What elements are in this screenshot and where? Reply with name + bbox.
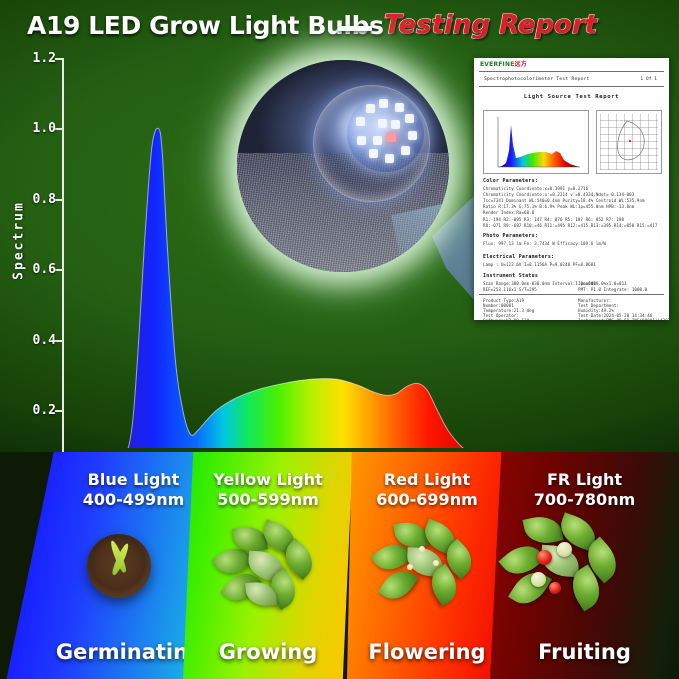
growth-stage-bands: Blue Light 400-499nm Germinating Yellow … — [0, 452, 679, 679]
report-section-heading-2: Electrical Parameters: — [483, 254, 554, 260]
report-section-heading-1: Photo Parameters: — [483, 233, 538, 239]
report-line: PMT: P1.0 Integrate: 1000.0 — [578, 287, 647, 292]
report-brand: EVERFINE远方 — [480, 61, 527, 68]
report-line: Chromaticity Coordinate:x=0.3991 y=0.271… — [483, 186, 588, 191]
band-fr-label-line1: FR Light — [547, 470, 622, 489]
band-red-light[interactable]: Red Light 600-699nm Flowering — [347, 452, 507, 679]
band-fr-label: FR Light 700-780nm — [490, 470, 679, 510]
report-line: Flux: 997.13 lm Fe: 3.7434 W Efficacy:10… — [483, 241, 606, 246]
title-separator-dash — [338, 26, 372, 31]
band-red-label: Red Light 600-699nm — [347, 470, 507, 510]
report-brand-name: EVERFINE — [480, 61, 515, 68]
led-array-disc — [347, 96, 423, 172]
band-fr-light[interactable]: FR Light 700-780nm Fruitin — [490, 452, 679, 679]
report-header-left: Spectrophotocolorimeter Test Report — [484, 77, 590, 83]
report-line: Ipc=0400.0%x1.0=011 — [578, 281, 627, 286]
band-blue-light[interactable]: Blue Light 400-499nm Germinating — [0, 452, 215, 679]
report-brand-cn: 远方 — [515, 61, 527, 68]
report-line: R8:-071 R9:-687 R10:=46 R11:=495 R12:=41… — [483, 223, 657, 228]
report-cie-chart — [596, 110, 662, 174]
report-rule-top — [479, 71, 664, 72]
band-yellow-label-line1: Yellow Light — [213, 470, 322, 489]
band-red-stage: Flowering — [347, 640, 507, 665]
report-rule-footer — [479, 294, 664, 295]
band-yellow-stage: Growing — [183, 640, 353, 665]
report-spectrum-plot — [483, 110, 589, 174]
bulb-photo — [237, 60, 449, 272]
report-section-heading-0: Color Parameters: — [483, 178, 538, 184]
report-line: Chromaticity Coordinate:u'=0.2214 v'=0.4… — [483, 192, 634, 197]
leafy-plant-icon — [208, 518, 328, 614]
report-line: Ratio R:17.3% G:75.1% B:6.9% Peak WL:1p=… — [483, 204, 634, 209]
band-fr-stage: Fruiting — [490, 640, 679, 665]
band-blue-label-line1: Blue Light — [88, 470, 180, 489]
chart-panel: A19 LED Grow Light Bulbs Testing Report … — [0, 0, 679, 452]
tomato-plant-icon — [497, 510, 629, 614]
report-title: Light Source Test Report — [474, 94, 669, 101]
report-section-heading-3: Instrument Status — [483, 273, 538, 279]
page-title: A19 LED Grow Light Bulbs — [27, 11, 384, 41]
seedling-icon — [87, 534, 151, 598]
report-line: R1:-194 R2:-095 R3: 147 R4: 076 R5: 187 … — [483, 217, 624, 222]
report-line: REF=253.116x1 S/T=295 — [483, 287, 537, 292]
report-line: Render Index:Ra=68.8 — [483, 210, 534, 215]
report-footer-line: Instrument:PMS-80_50 INS(00001)(A3021113… — [578, 318, 669, 320]
band-fr-label-line2: 700-780nm — [490, 490, 679, 510]
poster-root: A19 LED Grow Light Bulbs Testing Report … — [0, 0, 679, 679]
title-bar: A19 LED Grow Light Bulbs Testing Report — [0, 4, 679, 44]
band-red-label-line1: Red Light — [384, 470, 470, 489]
band-red-label-line2: 600-699nm — [347, 490, 507, 510]
report-rule-under-header — [479, 86, 664, 87]
flowering-plant-icon — [367, 516, 487, 612]
report-line: Lamp : U=122.6V I=0.1156A P=9.0248 PF=0.… — [483, 262, 596, 267]
report-page-indicator: 1 Of 1 — [640, 77, 657, 83]
title-accent: Testing Report — [384, 9, 597, 41]
band-yellow-light[interactable]: Yellow Light 500-599nm Growing — [183, 452, 353, 679]
report-line: Tcc=7341 Dominant WL:540=0.4nm Purity=18… — [483, 198, 645, 203]
test-report-document: EVERFINE远方 Spectrophotocolorimeter Test … — [474, 58, 669, 320]
band-yellow-label: Yellow Light 500-599nm — [183, 470, 353, 510]
report-footer-line: Software:V3.09.130 — [483, 318, 529, 320]
band-yellow-label-line2: 500-599nm — [183, 490, 353, 510]
